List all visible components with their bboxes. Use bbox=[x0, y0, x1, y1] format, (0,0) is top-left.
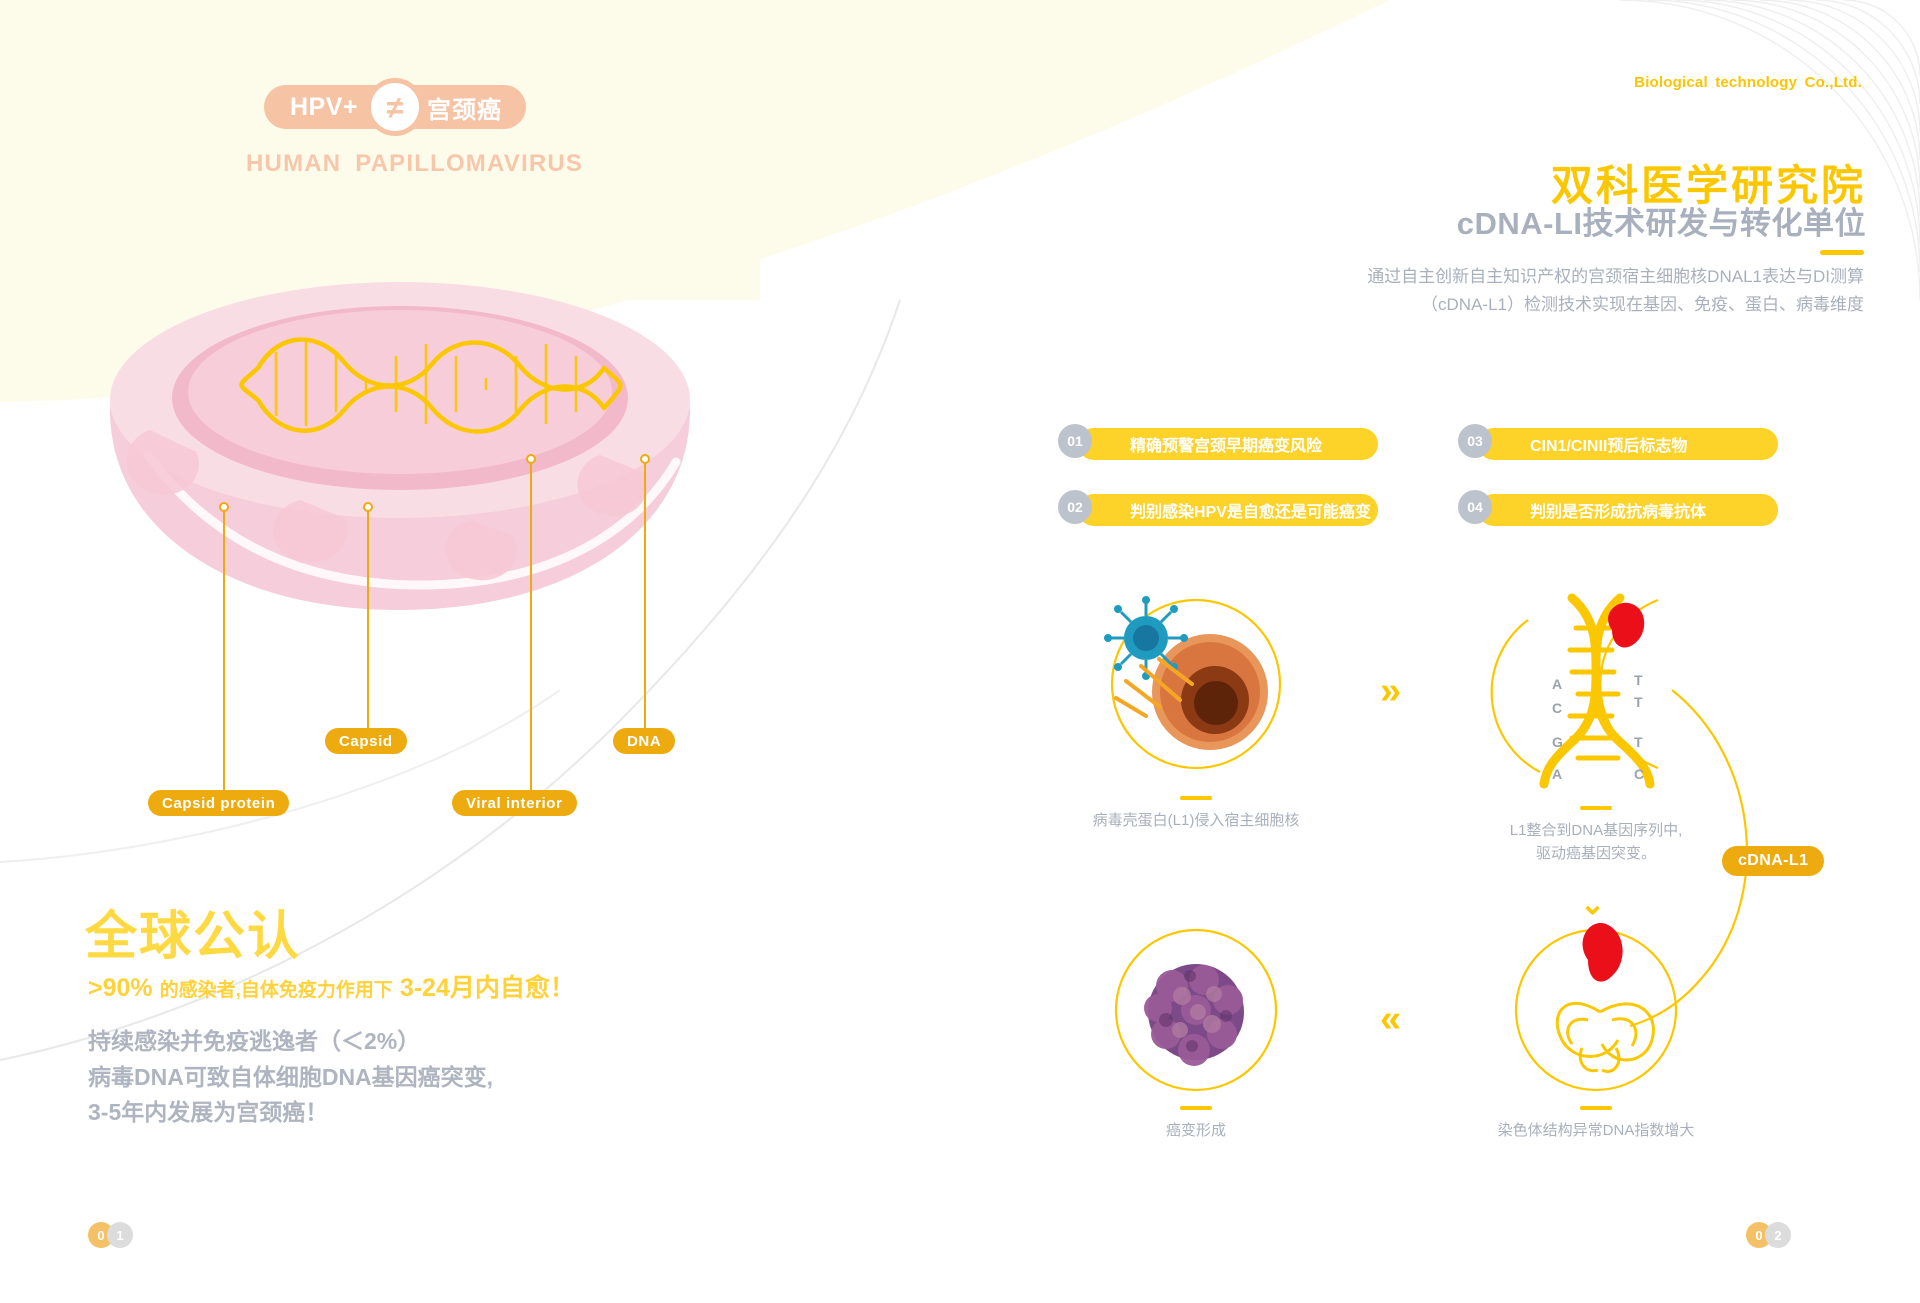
pagination-right: 0 2 bbox=[1746, 1222, 1791, 1248]
feature-pill-03-bar[interactable]: CIN1/CINII预后标志物 bbox=[1478, 428, 1778, 460]
chevron-left-icon: « bbox=[1380, 1000, 1401, 1038]
feature-pill-04-bar[interactable]: 判别是否形成抗病毒抗体 bbox=[1478, 494, 1778, 526]
dna-base-right-1: T bbox=[1634, 672, 1643, 688]
global-pct: >90% bbox=[88, 974, 153, 1002]
global-paragraph: 持续感染并免疫逃逸者（＜2%） 病毒DNA可致自体细胞DNA基因癌突变, 3-5… bbox=[88, 1024, 493, 1131]
feature-pill-01[interactable]: 精确预警宫颈早期癌变风险 01 bbox=[1058, 428, 1378, 460]
flow-step-2-caption: L1整合到DNA基因序列中, 驱动癌基因突变。 bbox=[1446, 820, 1746, 865]
feature-pill-01-number: 01 bbox=[1058, 424, 1092, 458]
global-para-line-1: 持续感染并免疫逃逸者（＜2%） bbox=[88, 1024, 493, 1060]
label-viral-interior: Viral interior bbox=[452, 790, 577, 816]
hpv-subtitle: HUMAN PAPILLOMAVIRUS bbox=[246, 150, 583, 178]
chevron-right-icon: » bbox=[1380, 672, 1401, 710]
feature-pill-02-number: 02 bbox=[1058, 490, 1092, 524]
flow-step-2-caption-line-1: L1整合到DNA基因序列中, bbox=[1446, 820, 1746, 843]
feature-pill-04-number: 04 bbox=[1458, 490, 1492, 524]
feature-pill-03-number: 03 bbox=[1458, 424, 1492, 458]
dna-base-left-4: A bbox=[1552, 766, 1562, 782]
company-tagline: Biological technology Co.,Ltd. bbox=[1634, 74, 1862, 91]
flow-step-4-caption: 癌变形成 bbox=[1046, 1120, 1346, 1143]
description-line-1: 通过自主创新自主知识产权的宫颈宿主细胞核DNAL1表达与DI测算 bbox=[1284, 263, 1864, 291]
hpv-badge: HPV+ ≠ 宫颈癌 bbox=[264, 85, 526, 129]
title-rule bbox=[1820, 250, 1864, 255]
institute-description: 通过自主创新自主知识产权的宫颈宿主细胞核DNAL1表达与DI测算 （cDNA-L… bbox=[1284, 263, 1864, 319]
global-tail-text: 3-24月内自愈！ bbox=[400, 974, 575, 1002]
cdna-l1-badge: cDNA-L1 bbox=[1722, 846, 1824, 876]
flow-step-1-caption: 病毒壳蛋白(L1)侵入宿主细胞核 bbox=[1046, 810, 1346, 833]
pagination-left: 0 1 bbox=[88, 1222, 133, 1248]
flow-step-1-graphic bbox=[1104, 596, 1280, 768]
flow-step-3-graphic bbox=[1516, 923, 1676, 1090]
feature-pill-04[interactable]: 判别是否形成抗病毒抗体 04 bbox=[1458, 494, 1778, 526]
caption-rule-1 bbox=[1180, 796, 1212, 800]
caption-rule-4 bbox=[1180, 1106, 1212, 1110]
flow-step-2-caption-line-2: 驱动癌基因突变。 bbox=[1446, 843, 1746, 866]
dna-base-right-2: T bbox=[1634, 694, 1643, 710]
institute-subtitle: cDNA-LI技术研发与转化单位 bbox=[1457, 198, 1866, 243]
global-heading: 全球公认 bbox=[85, 894, 301, 969]
dna-base-right-3: T bbox=[1634, 734, 1643, 750]
feature-pill-01-bar[interactable]: 精确预警宫颈早期癌变风险 bbox=[1078, 428, 1378, 460]
feature-pill-02-bar[interactable]: 判别感染HPV是自愈还是可能癌变 bbox=[1078, 494, 1378, 526]
flow-step-3-caption: 染色体结构异常DNA指数增大 bbox=[1446, 1120, 1746, 1143]
pagination-left-digit-2: 1 bbox=[107, 1222, 133, 1248]
feature-pill-03-label: CIN1/CINII预后标志物 bbox=[1530, 432, 1687, 456]
global-para-line-2: 病毒DNA可致自体细胞DNA基因癌突变, bbox=[88, 1060, 493, 1096]
hpv-badge-left-label: HPV+ bbox=[290, 93, 358, 122]
caption-rule-3 bbox=[1580, 1106, 1612, 1110]
hpv-badge-right-label: 宫颈癌 bbox=[427, 90, 502, 125]
chevron-down-icon: ⌄ bbox=[1580, 890, 1605, 920]
feature-pill-01-label: 精确预警宫颈早期癌变风险 bbox=[1130, 432, 1322, 456]
dna-base-left-3: G bbox=[1552, 734, 1563, 750]
global-stat-line: >90% 的感染者,自体免疫力作用下 3-24月内自愈！ bbox=[88, 968, 575, 1004]
label-capsid: Capsid bbox=[325, 728, 407, 754]
global-mid-text: 的感染者,自体免疫力作用下 bbox=[160, 980, 393, 1001]
dna-base-right-4: C bbox=[1634, 766, 1644, 782]
feature-pill-03[interactable]: CIN1/CINII预后标志物 03 bbox=[1458, 428, 1778, 460]
dna-base-left-2: C bbox=[1552, 700, 1562, 716]
not-equal-icon: ≠ bbox=[366, 78, 424, 136]
pagination-right-digit-2: 2 bbox=[1765, 1222, 1791, 1248]
flow-step-2-graphic bbox=[1492, 598, 1658, 784]
caption-rule-2 bbox=[1580, 806, 1612, 810]
global-para-line-3: 3-5年内发展为宫颈癌！ bbox=[88, 1095, 493, 1131]
label-dna: DNA bbox=[613, 728, 675, 754]
flow-step-4-graphic bbox=[1116, 930, 1276, 1090]
feature-pill-02-label: 判别感染HPV是自愈还是可能癌变 bbox=[1130, 498, 1371, 522]
feature-pill-04-label: 判别是否形成抗病毒抗体 bbox=[1530, 498, 1706, 522]
virus-illustration bbox=[110, 282, 690, 610]
feature-pill-02[interactable]: 判别感染HPV是自愈还是可能癌变 02 bbox=[1058, 494, 1378, 526]
label-capsid-protein: Capsid protein bbox=[148, 790, 289, 816]
dna-base-left-1: A bbox=[1552, 676, 1562, 692]
description-line-2: （cDNA-L1）检测技术实现在基因、免疫、蛋白、病毒维度 bbox=[1284, 291, 1864, 319]
